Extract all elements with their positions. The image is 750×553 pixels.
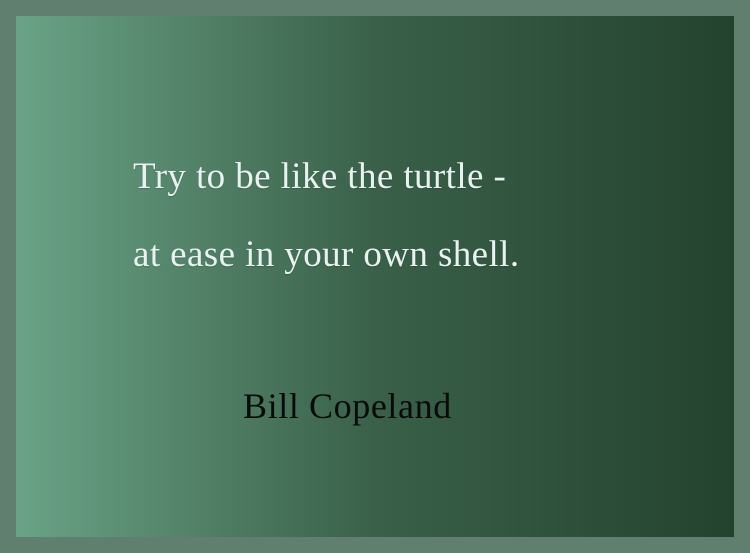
quote-card: Try to be like the turtle - at ease in y… (0, 0, 750, 553)
quote-line-1: Try to be like the turtle - (133, 138, 693, 216)
quote-attribution: Bill Copeland (243, 384, 452, 428)
quote-line-2: at ease in your own shell. (133, 216, 693, 294)
quote-text-block: Try to be like the turtle - at ease in y… (133, 138, 693, 294)
quote-background-panel: Try to be like the turtle - at ease in y… (16, 16, 734, 537)
